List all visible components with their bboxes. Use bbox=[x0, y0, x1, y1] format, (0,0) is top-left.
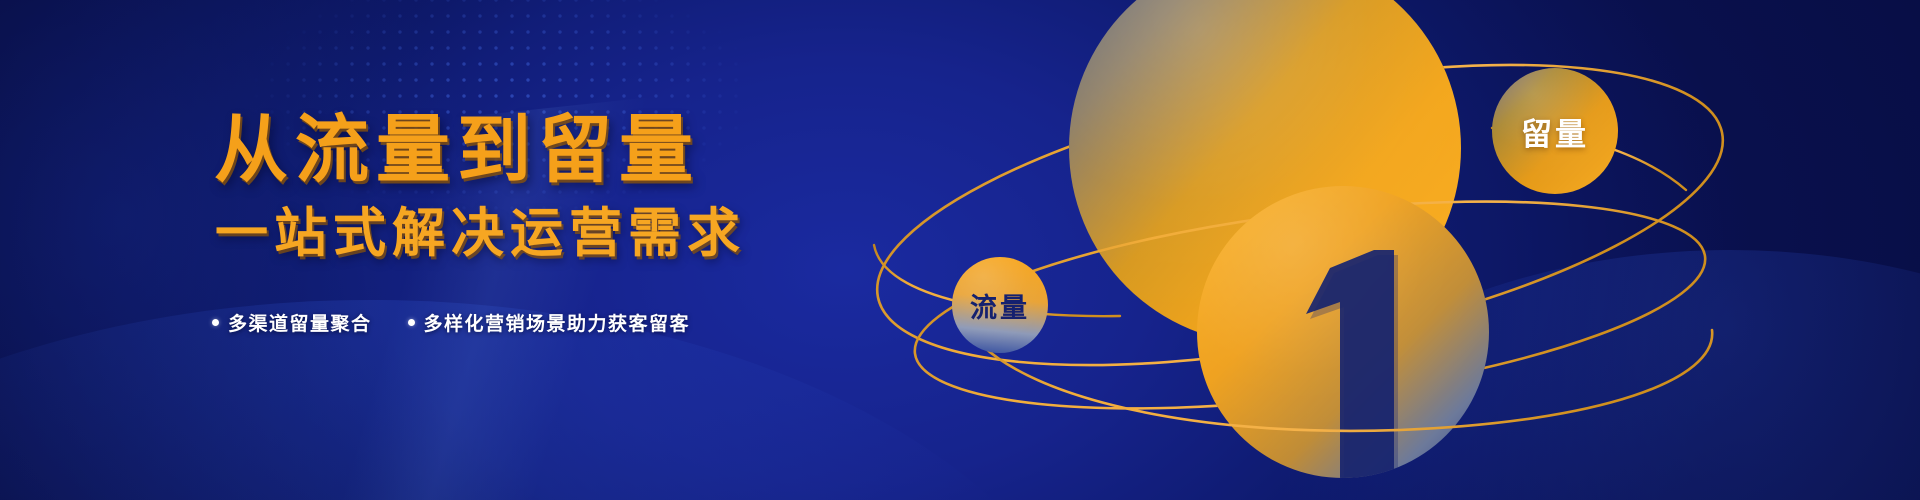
bullet-dot-icon bbox=[408, 319, 415, 326]
headline: 从流量到留量 bbox=[214, 113, 700, 187]
feature-bullet-label: 多渠道留量聚合 bbox=[228, 309, 372, 336]
bullet-dot-icon bbox=[212, 319, 219, 326]
front-sphere bbox=[1197, 186, 1489, 500]
feature-bullet: 多渠道留量聚合 bbox=[212, 309, 372, 336]
copy-block: 从流量到留量 一站式解决运营需求 多渠道留量聚合 多样化营销场景助力获客留客 bbox=[0, 0, 860, 500]
marketing-banner: 流量 留量 从流量到留量 一站式解决运营需求 多渠道留量聚合 多样化营销场景助力… bbox=[0, 0, 1920, 500]
badge-sphere-liuliang bbox=[1492, 68, 1618, 194]
feature-bullet-label: 多样化营销场景助力获客留客 bbox=[424, 309, 691, 336]
subheadline: 一站式解决运营需求 bbox=[215, 207, 746, 260]
feature-bullet-list: 多渠道留量聚合 多样化营销场景助力获客留客 bbox=[212, 309, 690, 336]
feature-bullet: 多样化营销场景助力获客留客 bbox=[408, 309, 691, 336]
small-sphere-liuliang bbox=[952, 257, 1048, 353]
